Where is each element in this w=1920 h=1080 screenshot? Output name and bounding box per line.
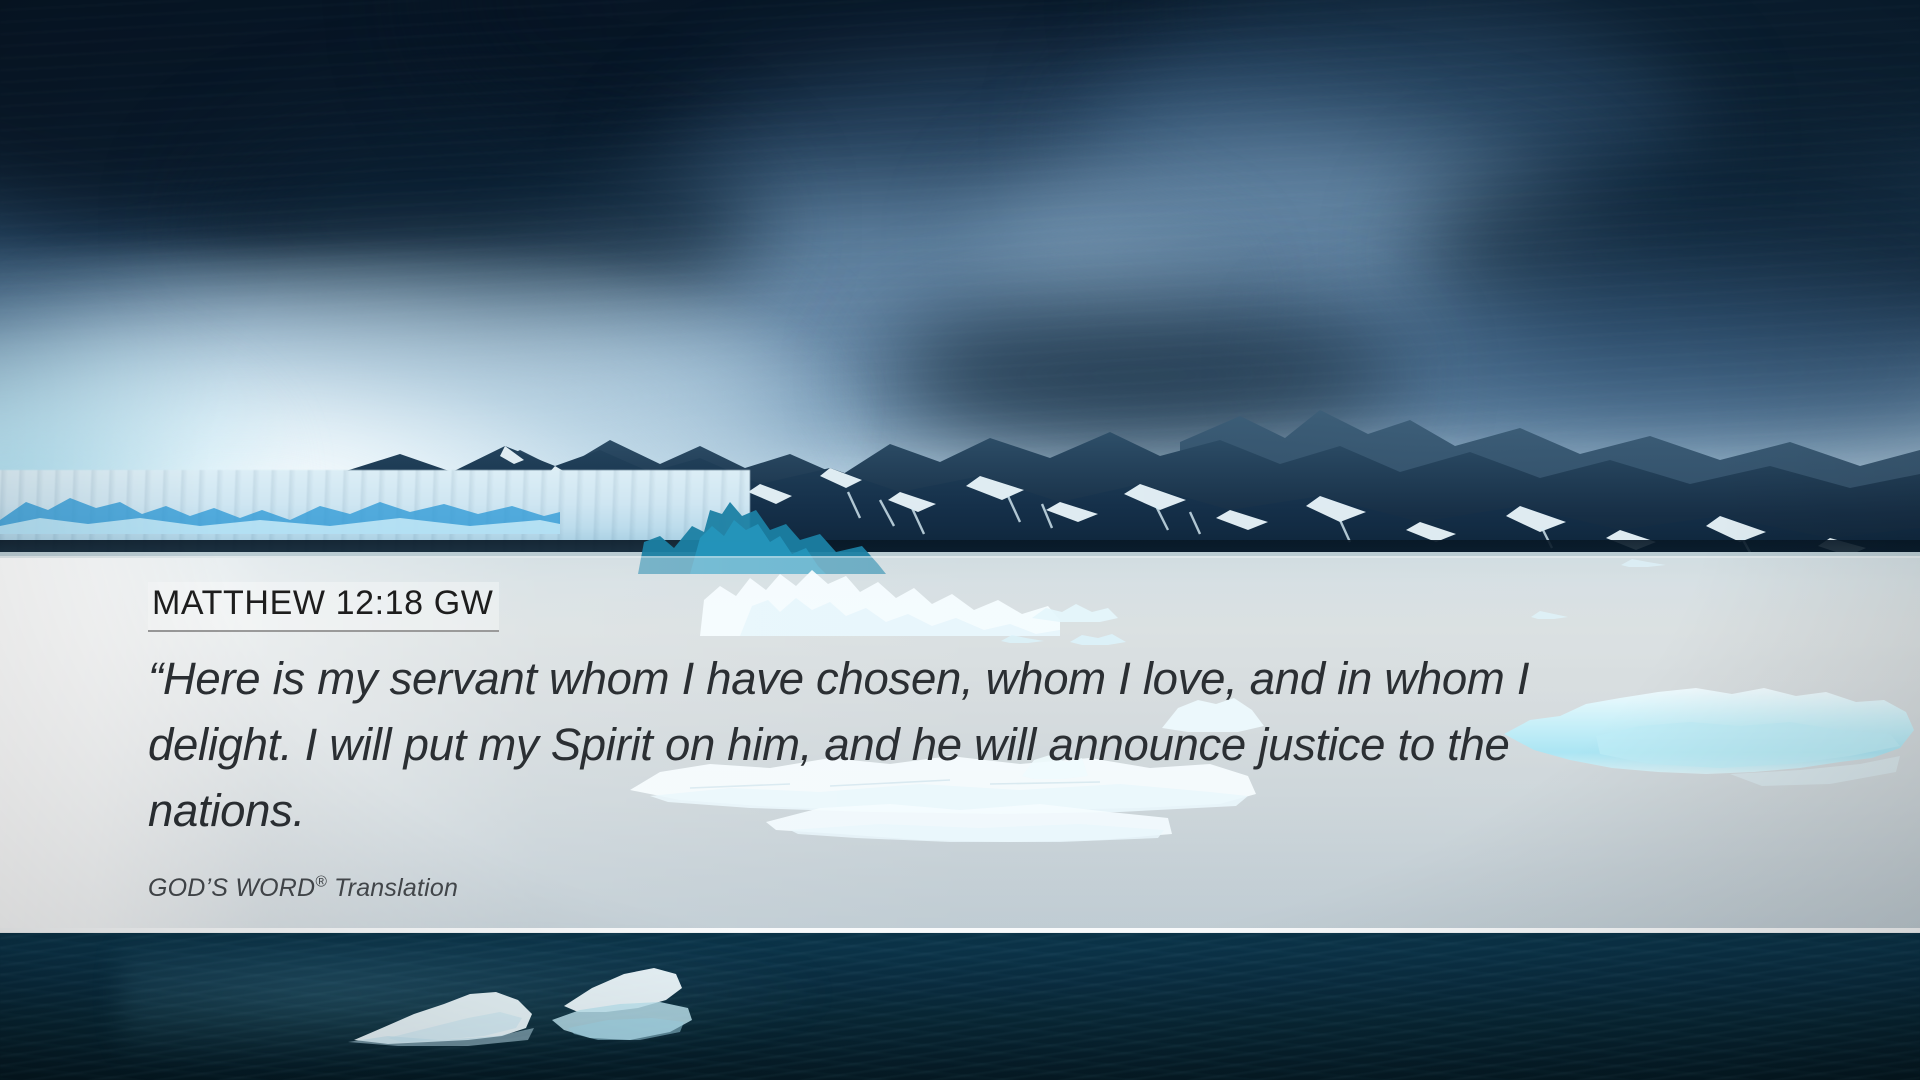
verse-image-canvas: MATTHEW 12:18 GW “Here is my servant who… <box>0 0 1920 1080</box>
translation-name: GOD’S WORD <box>148 874 315 902</box>
verse-line-2: delight. I will put my Spirit on him, an… <box>148 712 1808 778</box>
iceberg-foreground-right <box>520 962 710 1052</box>
verse-line-1: “Here is my servant whom I have chosen, … <box>148 646 1808 712</box>
band-bottom-rule <box>0 928 1920 933</box>
verse-line-3: nations. <box>148 778 1808 844</box>
translation-suffix: Translation <box>327 874 458 902</box>
iceberg-foreground-left <box>348 978 548 1048</box>
verse-text: “Here is my servant whom I have chosen, … <box>148 646 1808 844</box>
ice-ridge <box>0 484 560 534</box>
scripture-reference: MATTHEW 12:18 GW <box>148 582 499 632</box>
registered-trademark-icon: ® <box>315 874 327 891</box>
translation-attribution: GOD’S WORD® Translation <box>148 874 1848 903</box>
quote-card: MATTHEW 12:18 GW “Here is my servant who… <box>148 582 1848 903</box>
